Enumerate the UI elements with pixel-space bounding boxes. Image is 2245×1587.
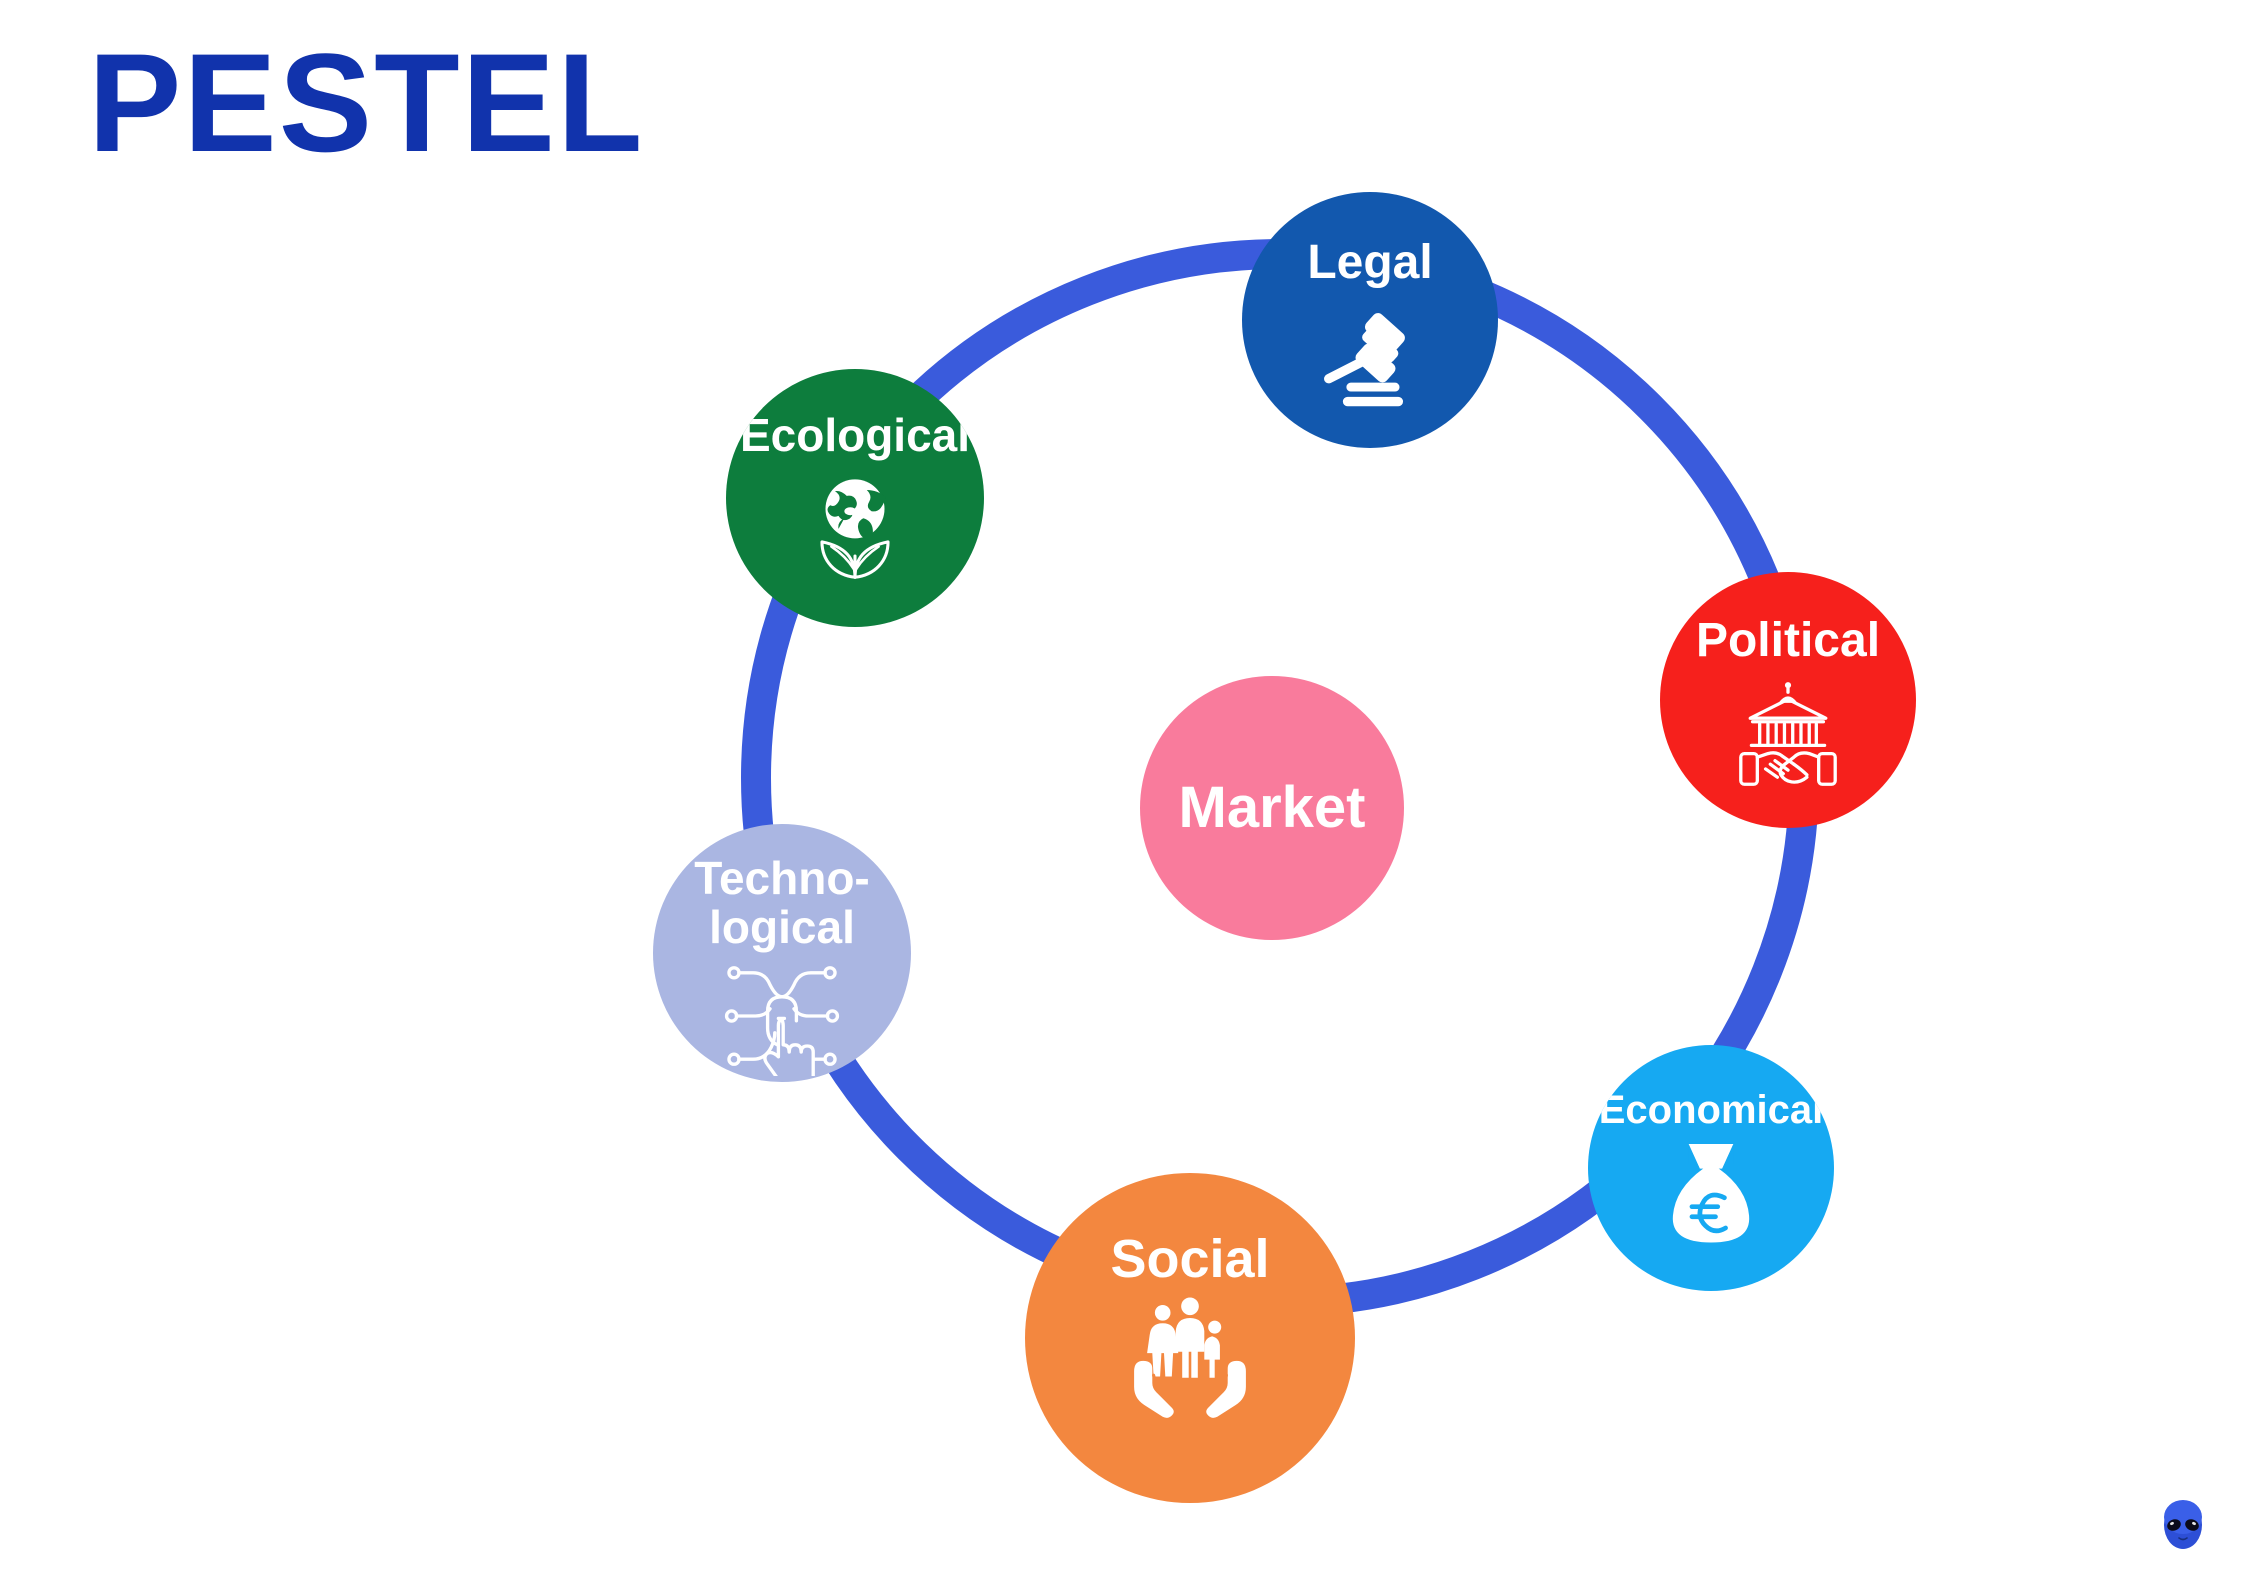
pestel-node-economical[interactable]: Economical — [1588, 1045, 1834, 1291]
pestel-node-social[interactable]: Social — [1025, 1173, 1355, 1503]
family-in-hands-icon — [1125, 1292, 1255, 1422]
money-bag-euro-icon — [1655, 1135, 1767, 1247]
circuit-touch-icon — [722, 956, 842, 1076]
pestel-diagram: Legal Political Economical — [0, 0, 2245, 1587]
government-handshake-icon — [1729, 671, 1847, 789]
pestel-node-ecological[interactable]: Ecological — [726, 369, 984, 627]
pestel-center-node-label: Market — [1179, 779, 1366, 837]
pestel-node-label-ecological: Ecological — [740, 411, 970, 460]
pestel-node-label-economical: Economical — [1599, 1089, 1824, 1131]
pestel-node-label-legal: Legal — [1307, 238, 1432, 289]
pestel-node-technological[interactable]: Techno- logical — [653, 824, 911, 1082]
pestel-node-label-political: Political — [1696, 616, 1880, 667]
pestel-node-political[interactable]: Political — [1660, 572, 1916, 828]
pestel-node-label-social: Social — [1110, 1231, 1269, 1288]
pestel-center-node-market[interactable]: Market — [1140, 676, 1404, 940]
pestel-node-legal[interactable]: Legal — [1242, 192, 1498, 448]
pestel-node-label-technological: Techno- logical — [694, 854, 869, 952]
globe-leaves-icon — [796, 464, 914, 582]
alien-head-logo — [2153, 1495, 2213, 1555]
gavel-icon — [1311, 293, 1429, 411]
